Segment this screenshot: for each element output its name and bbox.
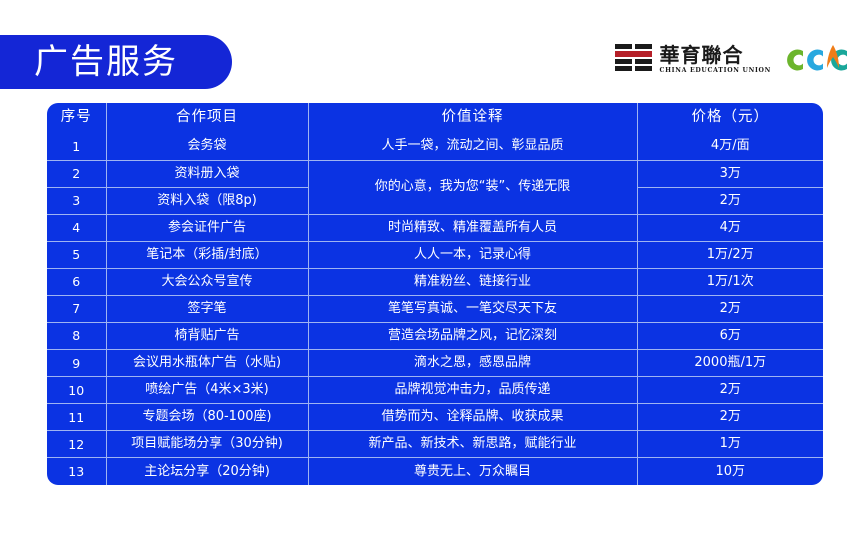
cell-value: 人人一本，记录心得 (308, 241, 637, 268)
column-header-value: 价值诠释 (308, 103, 637, 133)
cell-index: 12 (47, 431, 106, 458)
cell-price: 1万/1次 (637, 268, 823, 295)
ceu-wordmark: 華育聯合 CHINA EDUCATION UNION (659, 45, 771, 74)
cell-value: 品牌视觉冲击力，品质传递 (308, 377, 637, 404)
cell-index: 6 (47, 268, 106, 295)
cell-index: 13 (47, 458, 106, 485)
table-row: 8椅背贴广告营造会场品牌之风，记忆深刻6万 (47, 322, 823, 349)
cell-item: 资料册入袋 (106, 160, 308, 187)
table-body: 1会务袋人手一袋，流动之间、彰显品质4万/面2资料册入袋你的心意，我为您“装”、… (47, 133, 823, 485)
cell-index: 11 (47, 404, 106, 431)
table-row: 6大会公众号宣传精准粉丝、链接行业1万/1次 (47, 268, 823, 295)
cell-item: 笔记本（彩插/封底） (106, 241, 308, 268)
table-row: 11专题会场（80-100座)借势而为、诠释品牌、收获成果2万 (47, 404, 823, 431)
cell-item: 资料入袋（限8p) (106, 187, 308, 214)
cell-item: 会议用水瓶体广告（水贴) (106, 350, 308, 377)
cell-item: 参会证件广告 (106, 214, 308, 241)
advertising-price-table: 序号 合作项目 价值诠释 价格（元） 1会务袋人手一袋，流动之间、彰显品质4万/… (47, 103, 823, 485)
cell-price: 6万 (637, 322, 823, 349)
cell-value: 新产品、新技术、新思路，赋能行业 (308, 431, 637, 458)
cell-index: 1 (47, 133, 106, 160)
cell-price: 4万/面 (637, 133, 823, 160)
cell-item: 主论坛分享（20分钟) (106, 458, 308, 485)
column-header-price: 价格（元） (637, 103, 823, 133)
cell-price: 4万 (637, 214, 823, 241)
cell-value: 人手一袋，流动之间、彰显品质 (308, 133, 637, 160)
cell-value: 尊贵无上、万众瞩目 (308, 458, 637, 485)
cell-value: 营造会场品牌之风，记忆深刻 (308, 322, 637, 349)
cell-index: 9 (47, 350, 106, 377)
cell-value: 滴水之恩，感恩品牌 (308, 350, 637, 377)
cell-price: 2万 (637, 187, 823, 214)
table-row: 12项目赋能场分享（30分钟)新产品、新技术、新思路，赋能行业1万 (47, 431, 823, 458)
cell-price: 2万 (637, 295, 823, 322)
table-row: 2资料册入袋你的心意，我为您“装”、传递无限3万 (47, 160, 823, 187)
cell-item: 喷绘广告（4米×3米) (106, 377, 308, 404)
table-row: 5笔记本（彩插/封底）人人一本，记录心得1万/2万 (47, 241, 823, 268)
table-header-row: 序号 合作项目 价值诠释 价格（元） (47, 103, 823, 133)
cell-value: 你的心意，我为您“装”、传递无限 (308, 160, 637, 214)
cell-index: 8 (47, 322, 106, 349)
cell-index: 2 (47, 160, 106, 187)
china-education-union-logo: 華育聯合 CHINA EDUCATION UNION (615, 44, 771, 74)
cell-price: 1万/2万 (637, 241, 823, 268)
cell-index: 3 (47, 187, 106, 214)
cell-index: 7 (47, 295, 106, 322)
ceu-english-name: CHINA EDUCATION UNION (659, 67, 771, 74)
page-title: 广告服务 (34, 45, 178, 79)
table-row: 10喷绘广告（4米×3米)品牌视觉冲击力，品质传递2万 (47, 377, 823, 404)
cell-item: 会务袋 (106, 133, 308, 160)
cell-index: 4 (47, 214, 106, 241)
cell-value: 时尚精致、精准覆盖所有人员 (308, 214, 637, 241)
cell-price: 2万 (637, 377, 823, 404)
cell-item: 椅背贴广告 (106, 322, 308, 349)
cell-index: 10 (47, 377, 106, 404)
table-row: 1会务袋人手一袋，流动之间、彰显品质4万/面 (47, 133, 823, 160)
table-row: 4参会证件广告时尚精致、精准覆盖所有人员4万 (47, 214, 823, 241)
slide-root: 广告服务 華育聯合 CHINA EDUCATION UNION (0, 0, 867, 533)
cell-item: 签字笔 (106, 295, 308, 322)
cell-value: 精准粉丝、链接行业 (308, 268, 637, 295)
cell-price: 1万 (637, 431, 823, 458)
column-header-item: 合作项目 (106, 103, 308, 133)
cell-price: 2万 (637, 404, 823, 431)
cell-value: 借势而为、诠释品牌、收获成果 (308, 404, 637, 431)
column-header-index: 序号 (47, 103, 106, 133)
ceu-emblem-icon (615, 44, 652, 74)
cell-price: 3万 (637, 160, 823, 187)
cell-index: 5 (47, 241, 106, 268)
table-row: 9会议用水瓶体广告（水贴)滴水之恩，感恩品牌2000瓶/1万 (47, 350, 823, 377)
cell-item: 大会公众号宣传 (106, 268, 308, 295)
table-row: 7签字笔笔笔写真诚、一笔交尽天下友2万 (47, 295, 823, 322)
cell-price: 2000瓶/1万 (637, 350, 823, 377)
page-title-pill: 广告服务 (0, 35, 232, 89)
cell-price: 10万 (637, 458, 823, 485)
cell-value: 笔笔写真诚、一笔交尽天下友 (308, 295, 637, 322)
logo-area: 華育聯合 CHINA EDUCATION UNION (615, 42, 849, 76)
ccc-logo-icon (783, 42, 849, 76)
cell-item: 专题会场（80-100座) (106, 404, 308, 431)
ceu-chinese-name: 華育聯合 (659, 45, 771, 66)
cell-item: 项目赋能场分享（30分钟) (106, 431, 308, 458)
table-row: 13主论坛分享（20分钟)尊贵无上、万众瞩目10万 (47, 458, 823, 485)
